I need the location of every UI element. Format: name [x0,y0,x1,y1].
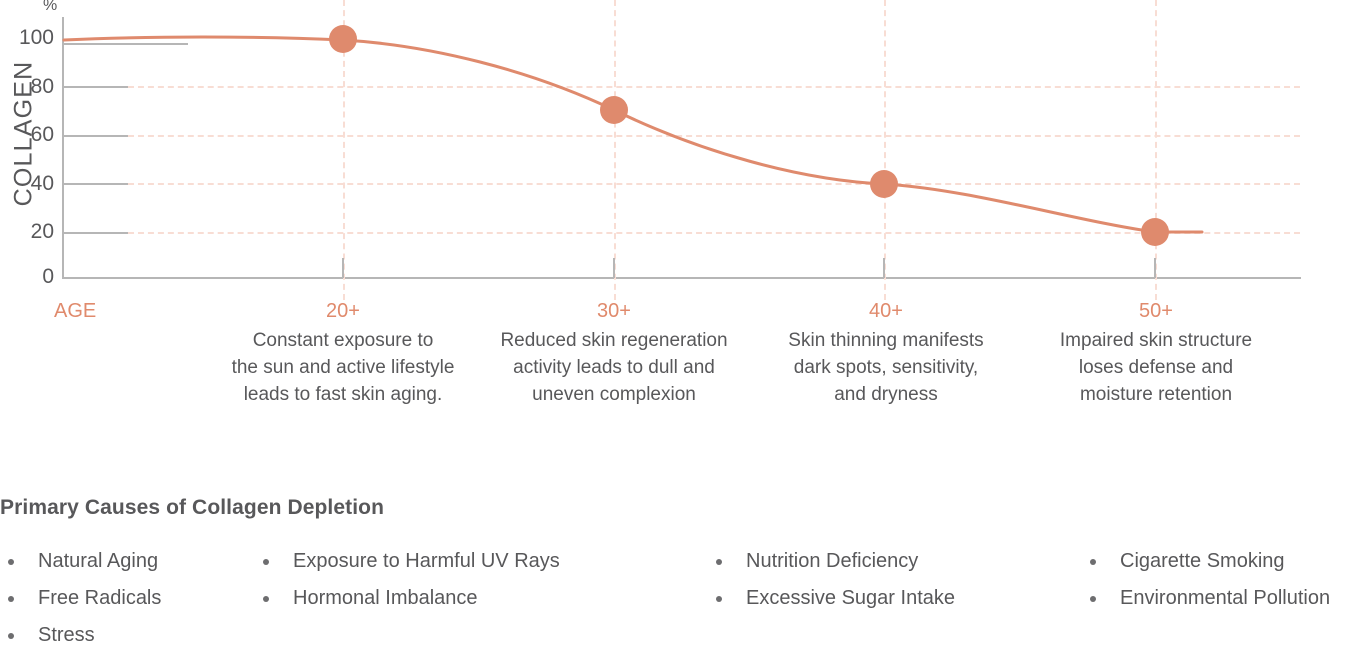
causes-column-3: Nutrition Deficiency Excessive Sugar Int… [708,543,955,617]
age-description-20plus: Constant exposure to the sun and active … [193,327,493,408]
list-item: Cigarette Smoking [1082,543,1330,580]
age-group-20plus: 20+ Constant exposure to the sun and act… [193,298,493,408]
list-item: Nutrition Deficiency [708,543,955,580]
age-group-50plus: 50+ Impaired skin structure loses defens… [1006,298,1306,408]
age-description-line: loses defense and [1006,354,1306,381]
list-item: Environmental Pollution [1082,580,1330,617]
age-description-line: activity leads to dull and [464,354,764,381]
age-group-40plus: 40+ Skin thinning manifests dark spots, … [736,298,1036,408]
causes-heading: Primary Causes of Collagen Depletion [0,496,384,520]
age-description-40plus: Skin thinning manifests dark spots, sens… [736,327,1036,408]
age-group-30plus: 30+ Reduced skin regeneration activity l… [464,298,764,408]
bullet-icon [1090,559,1096,565]
age-description-line: Constant exposure to [193,327,493,354]
age-description-line: moisture retention [1006,381,1306,408]
bullet-icon [263,559,269,565]
causes-column-4: Cigarette Smoking Environmental Pollutio… [1082,543,1330,617]
age-description-line: the sun and active lifestyle [193,354,493,381]
cause-label: Stress [38,624,95,646]
list-item: Hormonal Imbalance [255,580,560,617]
collagen-series-svg [0,0,1367,320]
bullet-icon [716,559,722,565]
data-point-40plus[interactable] [870,170,898,198]
cause-label: Exposure to Harmful UV Rays [293,550,560,572]
cause-label: Nutrition Deficiency [746,550,918,572]
data-point-30plus[interactable] [600,96,628,124]
cause-label: Free Radicals [38,587,161,609]
bullet-icon [263,596,269,602]
bullet-icon [716,596,722,602]
list-item: Stress [0,617,161,654]
list-item: Excessive Sugar Intake [708,580,955,617]
age-label-50plus: 50+ [1006,298,1306,324]
age-description-line: Impaired skin structure [1006,327,1306,354]
age-label-40plus: 40+ [736,298,1036,324]
age-description-line: uneven complexion [464,381,764,408]
collagen-trend-line [64,37,1202,232]
bullet-icon [8,559,14,565]
age-label-20plus: 20+ [193,298,493,324]
age-description-line: leads to fast skin aging. [193,381,493,408]
age-description-line: Skin thinning manifests [736,327,1036,354]
bullet-icon [8,596,14,602]
causes-column-2: Exposure to Harmful UV Rays Hormonal Imb… [255,543,560,617]
cause-label: Excessive Sugar Intake [746,587,955,609]
list-item: Exposure to Harmful UV Rays [255,543,560,580]
age-description-30plus: Reduced skin regeneration activity leads… [464,327,764,408]
cause-label: Natural Aging [38,550,158,572]
cause-label: Cigarette Smoking [1120,550,1285,572]
bullet-icon [1090,596,1096,602]
age-description-50plus: Impaired skin structure loses defense an… [1006,327,1306,408]
list-item: Free Radicals [0,580,161,617]
age-description-line: Reduced skin regeneration [464,327,764,354]
bullet-icon [8,633,14,639]
x-axis-name-age: AGE [54,298,96,324]
collagen-depletion-chart: COLLAGEN % 100 80 60 40 20 0 AGE 20+ Con… [0,0,1367,470]
age-description-line: dark spots, sensitivity, [736,354,1036,381]
data-point-50plus[interactable] [1141,218,1169,246]
age-description-line: and dryness [736,381,1036,408]
causes-column-1: Natural Aging Free Radicals Stress [0,543,161,654]
cause-label: Environmental Pollution [1120,587,1330,609]
age-label-30plus: 30+ [464,298,764,324]
cause-label: Hormonal Imbalance [293,587,478,609]
data-point-20plus[interactable] [329,25,357,53]
list-item: Natural Aging [0,543,161,580]
